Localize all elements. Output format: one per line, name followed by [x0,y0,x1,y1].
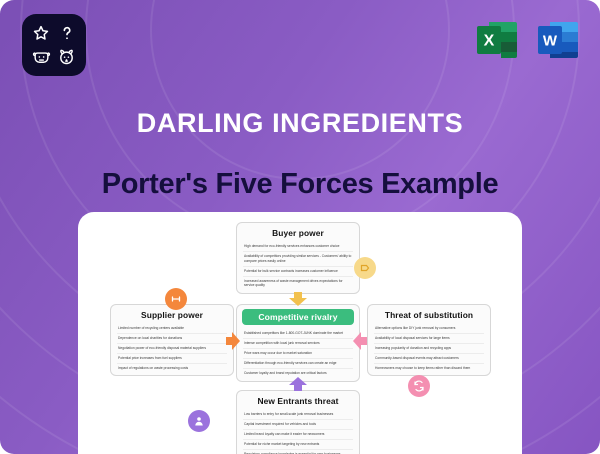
buyer-power-list: High demand for eco-friendly services en… [243,242,353,290]
list-item: Alternative options like DIY junk remova… [374,324,484,334]
threat-of-substitution-title: Threat of substitution [374,310,484,320]
badge-substitution-icon [408,375,430,397]
list-item: Increasing popularity of donation and re… [374,344,484,354]
porters-five-forces-diagram: Buyer power High demand for eco-friendly… [78,212,522,454]
list-item: Potential for niche market targeting by … [243,440,353,450]
force-box-supplier-power[interactable]: Supplier power Limited number of recycli… [110,304,234,376]
list-item: Price wars may occur due to market satur… [243,349,353,359]
poster: X W DARLING INGREDIENTS Porter's Five Fo… [0,0,600,454]
list-item: Availability of local disposal services … [374,334,484,344]
svg-text:W: W [543,33,558,50]
word-icon: W [534,16,582,64]
list-item: Potential price increases from fuel supp… [117,354,227,364]
threat-of-substitution-list: Alternative options like DIY junk remova… [374,324,484,373]
new-entrants-threat-title: New Entrants threat [243,396,353,406]
force-box-threat-of-substitution[interactable]: Threat of substitution Alternative optio… [367,304,491,376]
dog-icon [55,46,78,69]
star-icon [30,21,53,44]
list-item: Increased awareness of waste management … [243,277,353,291]
list-item: Homeowners may choose to keep items rath… [374,364,484,373]
force-box-competitive-rivalry[interactable]: Competitive rivalry Established competit… [236,304,360,382]
list-item: High demand for eco-friendly services en… [243,242,353,252]
office-icons: X W [473,16,582,64]
svg-text:X: X [484,33,495,50]
force-box-buyer-power[interactable]: Buyer power High demand for eco-friendly… [236,222,360,294]
brand-logo [22,14,86,76]
page-title: DARLING INGREDIENTS [0,108,600,139]
competitive-rivalry-list: Established competitors like 1-800-GOT-J… [243,329,353,378]
cow-icon [30,46,53,69]
list-item: Potential for bulk service contracts inc… [243,267,353,277]
list-item: Differentiation through eco-friendly ser… [243,359,353,369]
buyer-power-title: Buyer power [243,228,353,238]
badge-supplier-icon [165,288,187,310]
list-item: Community-based disposal events may attr… [374,354,484,364]
list-item: Availability of competitors providing si… [243,252,353,267]
list-item: Established competitors like 1-800-GOT-J… [243,329,353,339]
competitive-rivalry-title: Competitive rivalry [242,309,354,325]
excel-icon: X [473,16,521,64]
list-item: Regulatory compliance knowledge is essen… [243,450,353,454]
list-item: Low barriers to entry for small-scale ju… [243,410,353,420]
list-item: Dependence on local charities for donati… [117,334,227,344]
badge-entrants-icon [188,410,210,432]
supplier-power-list: Limited number of recycling centers avai… [117,324,227,373]
diagram-panel: Buyer power High demand for eco-friendly… [78,212,522,454]
list-item: Negotiation power of eco-friendly dispos… [117,344,227,354]
question-mark-icon [55,21,78,44]
list-item: Limited brand loyalty can make it easier… [243,430,353,440]
supplier-power-title: Supplier power [117,310,227,320]
list-item: Intense competition with local junk remo… [243,339,353,349]
page-subtitle: Porter's Five Forces Example [0,168,600,201]
list-item: Impact of regulations on waste processin… [117,364,227,373]
badge-buyer-icon [354,257,376,279]
list-item: Capital investment required for vehicles… [243,420,353,430]
force-box-new-entrants-threat[interactable]: New Entrants threat Low barriers to entr… [236,390,360,454]
new-entrants-threat-list: Low barriers to entry for small-scale ju… [243,410,353,454]
list-item: Limited number of recycling centers avai… [117,324,227,334]
